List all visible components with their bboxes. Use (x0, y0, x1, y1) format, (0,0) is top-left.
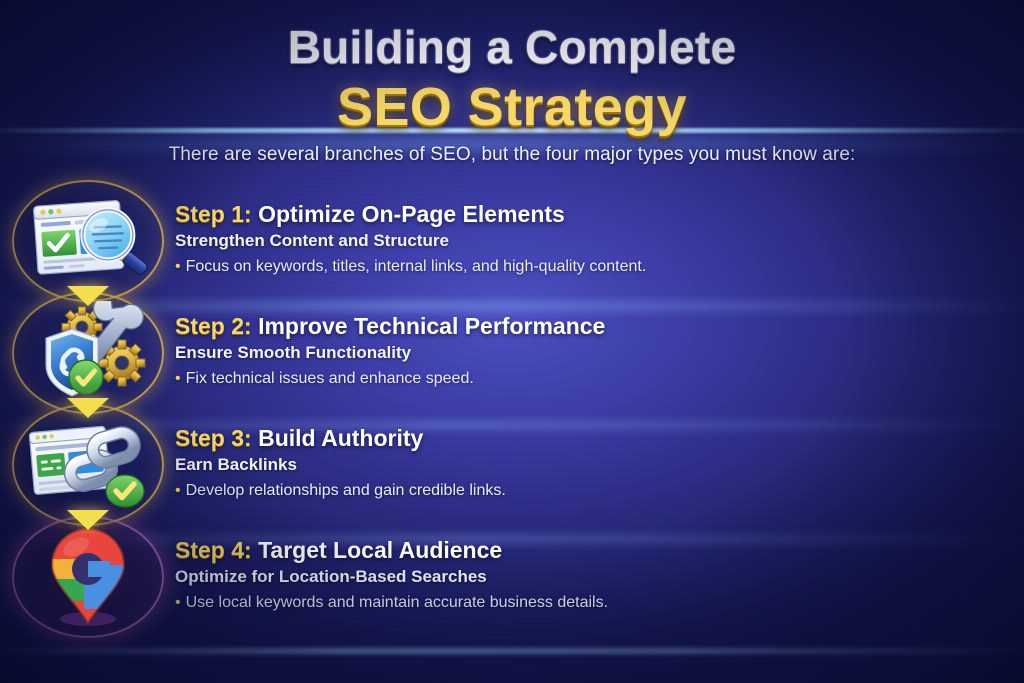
step-connector-arrow (67, 510, 109, 530)
step-icon-container (0, 409, 175, 521)
page-title-line1: Building a Complete (0, 20, 1024, 74)
step-subtitle: Ensure Smooth Functionality (175, 343, 605, 363)
step-icon-container (0, 185, 175, 297)
step-text-block: Step 1: Optimize On-Page Elements Streng… (175, 185, 646, 276)
step-heading: Step 4: Target Local Audience (175, 538, 608, 562)
step-text-block: Step 3: Build Authority Earn Backlinks •… (175, 409, 506, 500)
step-bullet: •Focus on keywords, titles, internal lin… (175, 258, 646, 276)
light-streak (0, 648, 1024, 654)
bullet-dot-icon: • (175, 594, 181, 611)
step-label: Step 2: (175, 313, 252, 339)
step-title: Improve Technical Performance (258, 313, 605, 339)
list-item: Step 3: Build Authority Earn Backlinks •… (0, 409, 1024, 521)
step-connector-arrow (67, 398, 109, 418)
list-item: Step 4: Target Local Audience Optimize f… (0, 521, 1024, 633)
step-title: Optimize On-Page Elements (258, 201, 565, 227)
step-bullet-text: Develop relationships and gain credible … (186, 482, 506, 499)
step-subtitle: Strengthen Content and Structure (175, 231, 646, 251)
step-bullet-text: Fix technical issues and enhance speed. (186, 370, 474, 387)
page-subtitle: There are several branches of SEO, but t… (0, 144, 1024, 166)
step-connector-arrow (67, 286, 109, 306)
google-map-pin-icon (24, 525, 152, 629)
browser-window-magnifier-icon (24, 189, 152, 293)
steps-list: Step 1: Optimize On-Page Elements Streng… (0, 185, 1024, 633)
step-title: Target Local Audience (258, 537, 502, 563)
step-icon-container (0, 297, 175, 409)
infographic-poster: Building a Complete SEO Strategy There a… (0, 0, 1024, 683)
list-item: Step 2: Improve Technical Performance En… (0, 297, 1024, 409)
step-bullet: •Develop relationships and gain credible… (175, 482, 506, 500)
step-heading: Step 2: Improve Technical Performance (175, 314, 605, 338)
step-bullet-text: Focus on keywords, titles, internal link… (186, 258, 647, 275)
step-title: Build Authority (258, 425, 423, 451)
step-subtitle: Optimize for Location-Based Searches (175, 567, 608, 587)
page-title-line2: SEO Strategy (0, 76, 1024, 138)
step-bullet-text: Use local keywords and maintain accurate… (186, 594, 608, 611)
bullet-dot-icon: • (175, 370, 181, 387)
shield-wrench-gears-icon (24, 301, 152, 405)
step-text-block: Step 4: Target Local Audience Optimize f… (175, 521, 608, 612)
step-bullet: •Fix technical issues and enhance speed. (175, 370, 605, 388)
step-heading: Step 3: Build Authority (175, 426, 506, 450)
browser-chain-link-icon (24, 413, 152, 517)
poster-header: Building a Complete SEO Strategy (0, 0, 1024, 138)
step-bullet: •Use local keywords and maintain accurat… (175, 594, 608, 612)
step-label: Step 1: (175, 201, 252, 227)
step-icon-container (0, 521, 175, 633)
step-text-block: Step 2: Improve Technical Performance En… (175, 297, 605, 388)
list-item: Step 1: Optimize On-Page Elements Streng… (0, 185, 1024, 297)
step-label: Step 3: (175, 425, 252, 451)
bullet-dot-icon: • (175, 258, 181, 275)
step-subtitle: Earn Backlinks (175, 455, 506, 475)
bullet-dot-icon: • (175, 482, 181, 499)
step-label: Step 4: (175, 537, 252, 563)
step-heading: Step 1: Optimize On-Page Elements (175, 202, 646, 226)
